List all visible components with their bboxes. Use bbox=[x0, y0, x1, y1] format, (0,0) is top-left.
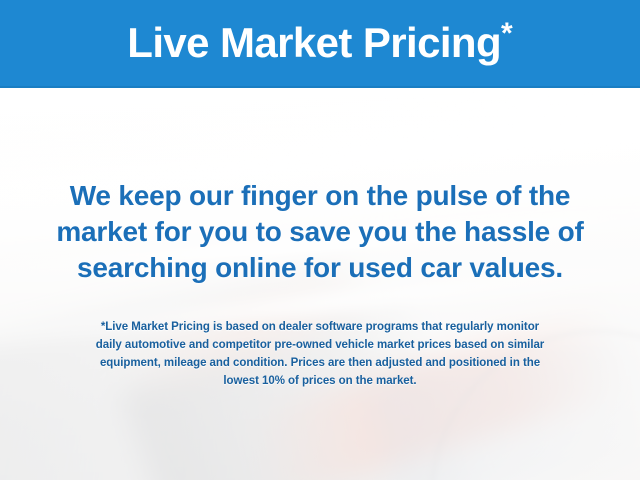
headline-text: We keep our finger on the pulse of the m… bbox=[0, 178, 640, 286]
disclaimer-line-4: lowest 10% of prices on the market. bbox=[0, 372, 640, 390]
page-title: Live Market Pricing* bbox=[127, 19, 512, 67]
headline-line-1: We keep our finger on the pulse of the bbox=[0, 178, 640, 214]
disclaimer-line-3: equipment, mileage and condition. Prices… bbox=[0, 354, 640, 372]
live-market-pricing-banner: Live Market Pricing* We keep our finger … bbox=[0, 0, 640, 480]
disclaimer-line-1: *Live Market Pricing is based on dealer … bbox=[0, 318, 640, 336]
footnote-asterisk: * bbox=[501, 17, 513, 50]
page-title-text: Live Market Pricing bbox=[127, 19, 501, 66]
disclaimer-line-2: daily automotive and competitor pre-owne… bbox=[0, 336, 640, 354]
header-band: Live Market Pricing* bbox=[0, 0, 640, 88]
headline-line-3: searching online for used car values. bbox=[0, 250, 640, 286]
headline-line-2: market for you to save you the hassle of bbox=[0, 214, 640, 250]
disclaimer-text: *Live Market Pricing is based on dealer … bbox=[0, 318, 640, 390]
